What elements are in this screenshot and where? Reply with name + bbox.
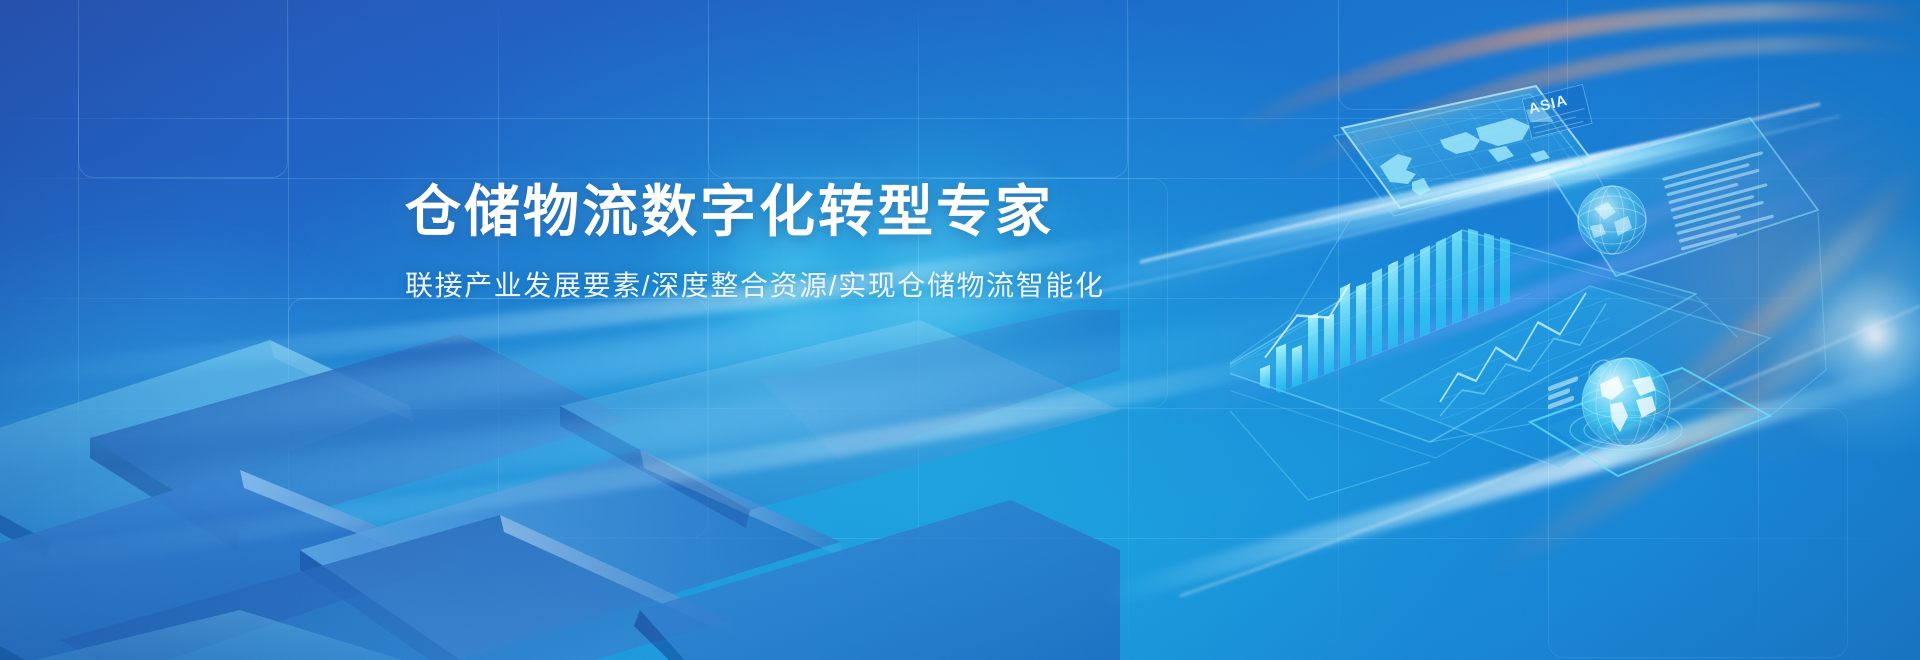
svg-text:ASIA: ASIA [1527, 92, 1570, 118]
faceted-slab-field [0, 310, 1120, 660]
light-streak-ribbons [0, 0, 1920, 660]
holographic-tech-cluster: ASIA [1230, 70, 1920, 520]
page-subtitle: 联接产业发展要素/深度整合资源/实现仓储物流智能化 [405, 268, 1325, 304]
globe-platform [1530, 358, 1770, 476]
banner-copy: 仓储物流数字化转型专家 联接产业发展要素/深度整合资源/实现仓储物流智能化 [405, 182, 1325, 305]
globe-panel [1550, 118, 1818, 276]
lens-flare [1740, 200, 1920, 470]
map-label-asia: ASIA [1522, 84, 1592, 138]
line-chart-panel [1380, 284, 1770, 468]
panel-text-lines [1662, 151, 1782, 251]
world-map-panel: ASIA [1334, 84, 1592, 216]
vignette-overlay [0, 0, 1920, 660]
hero-banner: ASIA [0, 0, 1920, 660]
grain-overlay [0, 0, 1920, 660]
page-title: 仓储物流数字化转型专家 [405, 182, 1325, 242]
warm-lens-glow [1560, 60, 1920, 480]
